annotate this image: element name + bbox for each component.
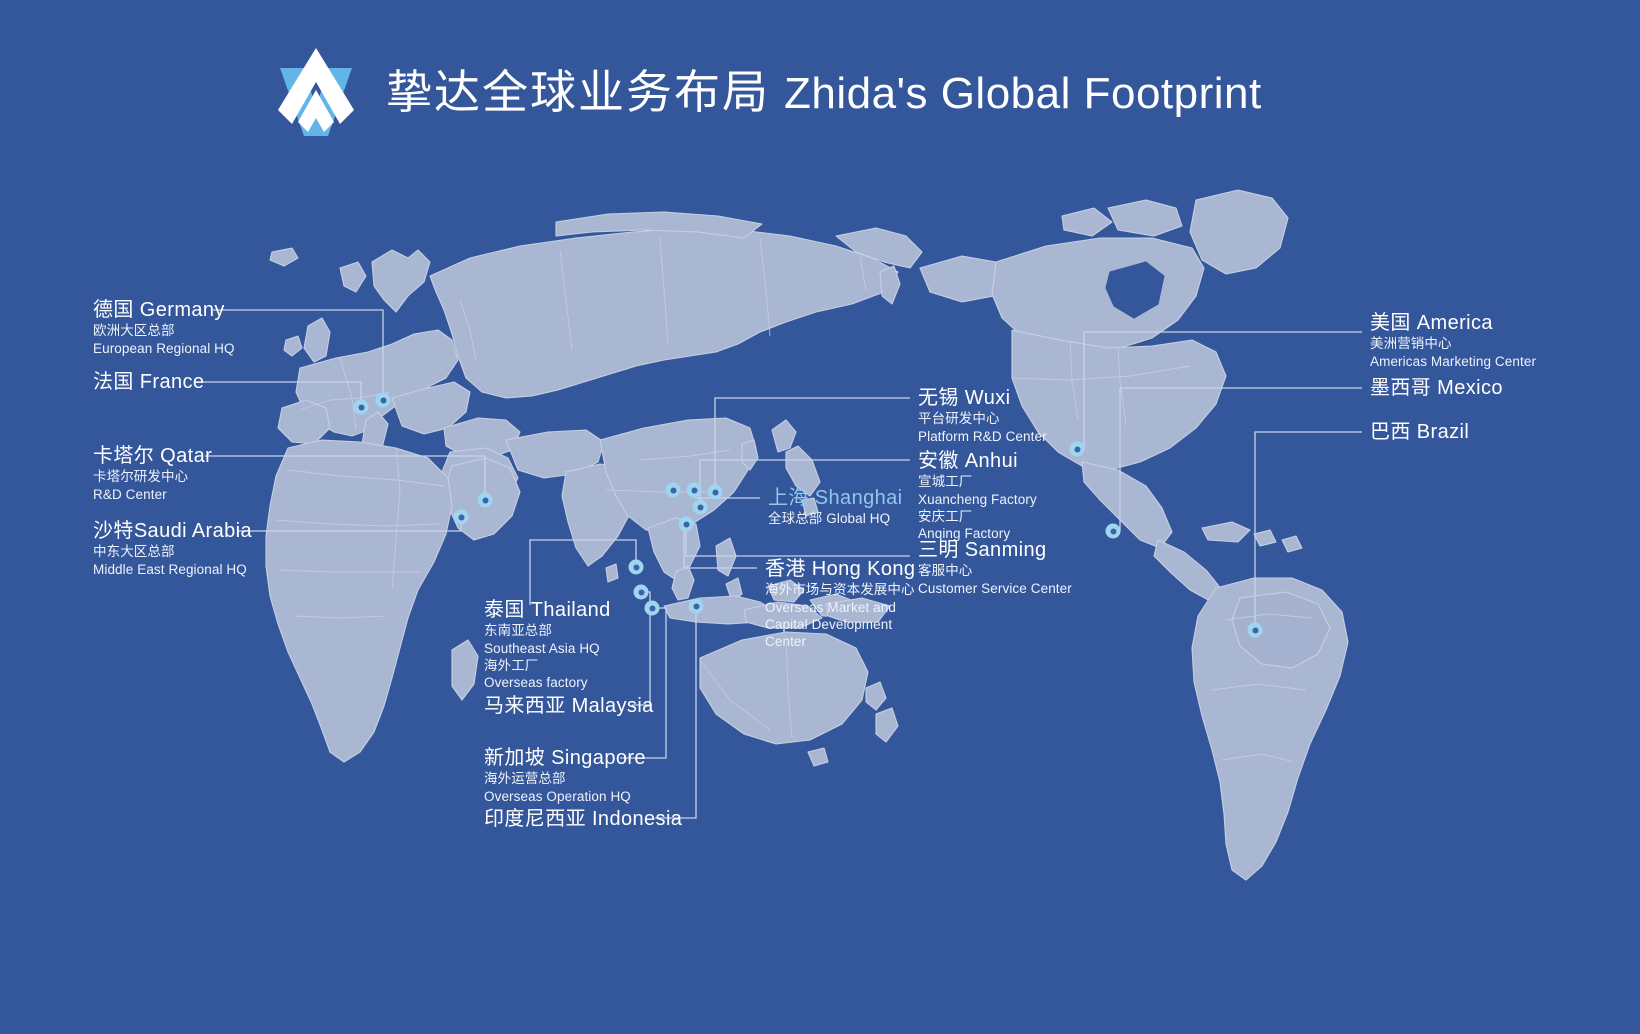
- label-germany[interactable]: 德国 Germany 欧洲大区总部 European Regional HQ: [93, 298, 235, 357]
- label-anhui-cn: 安徽: [918, 450, 959, 472]
- label-singapore-cn: 新加坡: [484, 747, 545, 769]
- marker-indonesia[interactable]: [689, 599, 704, 614]
- label-brazil-en: Brazil: [1417, 421, 1469, 443]
- label-france-cn: 法国: [93, 371, 134, 393]
- label-anhui-sub-cn2: 安庆工厂: [918, 508, 1037, 525]
- label-hongkong-sub-cn: 海外市场与资本发展中心: [765, 581, 925, 598]
- label-saudi-sub-cn: 中东大区总部: [93, 543, 252, 560]
- label-wuxi-sub-cn: 平台研发中心: [918, 410, 1047, 427]
- label-thailand-sub-en: Southeast Asia HQ: [484, 640, 611, 657]
- label-indonesia-en: Indonesia: [592, 808, 682, 830]
- label-qatar-cn: 卡塔尔: [93, 445, 154, 467]
- marker-thailand[interactable]: [629, 560, 644, 575]
- marker-singapore[interactable]: [645, 601, 660, 616]
- label-shanghai-cn: 上海: [768, 487, 809, 509]
- label-germany-cn: 德国: [93, 299, 134, 321]
- page-title-en: Zhida's Global Footprint: [784, 72, 1262, 116]
- marker-shanghai[interactable]: [687, 483, 702, 498]
- label-america-sub-en: Americas Marketing Center: [1370, 353, 1536, 370]
- label-qatar-en: Qatar: [160, 445, 212, 467]
- label-america-en: America: [1417, 312, 1493, 334]
- marker-saudi[interactable]: [454, 510, 469, 525]
- label-sanming[interactable]: 三明 Sanming 客服中心 Customer Service Center: [918, 538, 1072, 597]
- label-america[interactable]: 美国 America 美洲营销中心 Americas Marketing Cen…: [1370, 311, 1536, 370]
- label-anhui-sub-cn: 宣城工厂: [918, 473, 1037, 490]
- marker-germany[interactable]: [376, 393, 391, 408]
- label-singapore-sub-en: Overseas Operation HQ: [484, 788, 646, 805]
- label-thailand[interactable]: 泰国 Thailand 东南亚总部 Southeast Asia HQ 海外工厂…: [484, 598, 611, 691]
- label-hongkong-cn: 香港: [765, 558, 806, 580]
- label-anhui[interactable]: 安徽 Anhui 宣城工厂 Xuancheng Factory 安庆工厂 Anq…: [918, 449, 1037, 542]
- marker-anhui[interactable]: [693, 500, 708, 515]
- label-hongkong-sub-en: Overseas Market and Capital Development …: [765, 599, 925, 651]
- label-sanming-en: Sanming: [965, 539, 1047, 561]
- marker-malaysia[interactable]: [634, 585, 649, 600]
- label-america-cn: 美国: [1370, 312, 1411, 334]
- label-thailand-sub-en2: Overseas factory: [484, 674, 611, 691]
- label-wuxi[interactable]: 无锡 Wuxi 平台研发中心 Platform R&D Center: [918, 386, 1047, 445]
- label-saudi-en: Saudi Arabia: [134, 520, 252, 542]
- label-germany-sub-en: European Regional HQ: [93, 340, 235, 357]
- label-hongkong[interactable]: 香港 Hong Kong 海外市场与资本发展中心 Overseas Market…: [765, 557, 925, 650]
- label-shanghai[interactable]: 上海 Shanghai 全球总部 Global HQ: [768, 486, 903, 528]
- zhida-logo-icon: [268, 44, 364, 140]
- label-indonesia[interactable]: 印度尼西亚 Indonesia: [484, 807, 682, 831]
- marker-mexico[interactable]: [1106, 524, 1121, 539]
- label-wuxi-cn: 无锡: [918, 387, 959, 409]
- label-sanming-sub-cn: 客服中心: [918, 562, 1072, 579]
- label-singapore-en: Singapore: [551, 747, 646, 769]
- label-hongkong-en: Hong Kong: [812, 558, 916, 580]
- label-germany-en: Germany: [140, 299, 225, 321]
- label-singapore[interactable]: 新加坡 Singapore 海外运营总部 Overseas Operation …: [484, 746, 646, 805]
- label-brazil[interactable]: 巴西 Brazil: [1370, 420, 1469, 444]
- label-qatar-sub-cn: 卡塔尔研发中心: [93, 468, 212, 485]
- label-malaysia-cn: 马来西亚: [484, 695, 566, 717]
- label-saudi-cn: 沙特: [93, 520, 134, 542]
- label-sanming-sub-en: Customer Service Center: [918, 580, 1072, 597]
- marker-wuxi[interactable]: [708, 485, 723, 500]
- page-title-cn: 挚达全球业务布局: [386, 69, 770, 115]
- marker-qatar[interactable]: [478, 493, 493, 508]
- label-singapore-sub-cn: 海外运营总部: [484, 770, 646, 787]
- label-anhui-sub-en: Xuancheng Factory: [918, 491, 1037, 508]
- marker-sanming[interactable]: [679, 517, 694, 532]
- marker-america[interactable]: [1070, 442, 1085, 457]
- label-thailand-sub-cn: 东南亚总部: [484, 622, 611, 639]
- marker-hongkong[interactable]: [666, 483, 681, 498]
- label-france-en: France: [140, 371, 205, 393]
- label-malaysia[interactable]: 马来西亚 Malaysia: [484, 694, 654, 718]
- marker-brazil[interactable]: [1248, 623, 1263, 638]
- label-mexico-en: Mexico: [1437, 377, 1503, 399]
- label-anhui-en: Anhui: [965, 450, 1018, 472]
- label-thailand-cn: 泰国: [484, 599, 525, 621]
- label-thailand-sub-cn2: 海外工厂: [484, 657, 611, 674]
- label-qatar-sub-en: R&D Center: [93, 486, 212, 503]
- page-header: 挚达全球业务布局 Zhida's Global Footprint: [268, 42, 1262, 142]
- marker-france[interactable]: [354, 400, 369, 415]
- label-shanghai-en: Shanghai: [815, 487, 903, 509]
- label-indonesia-cn: 印度尼西亚: [484, 808, 586, 830]
- label-france[interactable]: 法国 France: [93, 370, 204, 394]
- label-america-sub-cn: 美洲营销中心: [1370, 335, 1536, 352]
- label-mexico-cn: 墨西哥: [1370, 377, 1431, 399]
- label-germany-sub-cn: 欧洲大区总部: [93, 322, 235, 339]
- label-mexico[interactable]: 墨西哥 Mexico: [1370, 376, 1503, 400]
- label-saudi-sub-en: Middle East Regional HQ: [93, 561, 252, 578]
- label-thailand-en: Thailand: [531, 599, 611, 621]
- label-malaysia-en: Malaysia: [572, 695, 654, 717]
- label-wuxi-sub-en: Platform R&D Center: [918, 428, 1047, 445]
- label-brazil-cn: 巴西: [1370, 421, 1411, 443]
- label-shanghai-sub-cn: 全球总部 Global HQ: [768, 510, 903, 527]
- label-saudi[interactable]: 沙特Saudi Arabia 中东大区总部 Middle East Region…: [93, 519, 252, 578]
- label-wuxi-en: Wuxi: [965, 387, 1011, 409]
- label-qatar[interactable]: 卡塔尔 Qatar 卡塔尔研发中心 R&D Center: [93, 444, 212, 503]
